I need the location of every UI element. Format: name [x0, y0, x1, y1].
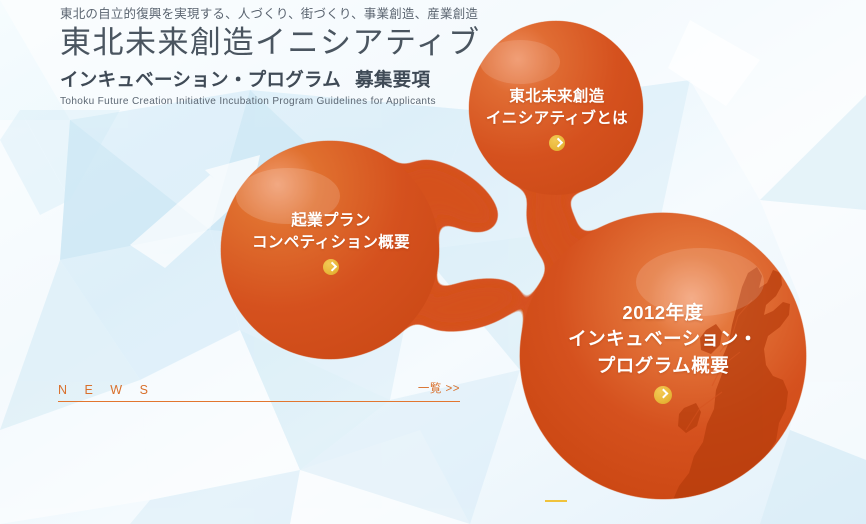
- news-section: N E W S 一覧 >>: [58, 380, 460, 402]
- circle-program-line-3: プログラム概要: [540, 353, 786, 379]
- chevron-right-icon[interactable]: [549, 135, 565, 151]
- nav-circle-competition[interactable]: 起業プラン コンペティション概要: [232, 210, 430, 275]
- header-tagline: 東北の自立的復興を実現する、人づくり、街づくり、事業創造、産業創造: [60, 6, 481, 22]
- chevron-right-icon[interactable]: [654, 386, 672, 404]
- header-subtitle-secondary: 募集要項: [355, 69, 430, 90]
- header-subtitle-main: インキュベーション・プログラム: [60, 69, 341, 90]
- news-heading: N E W S: [58, 383, 155, 397]
- page-header: 東北の自立的復興を実現する、人づくり、街づくり、事業創造、産業創造 東北未来創造…: [60, 6, 481, 109]
- circle-about-line-2: イニシアティブとは: [470, 108, 644, 130]
- chevron-right-icon[interactable]: [323, 259, 339, 275]
- bottom-gold-divider: [545, 500, 567, 502]
- page-title: 東北未来創造イニシアティブ: [60, 24, 481, 63]
- nav-circle-program[interactable]: 2012年度 インキュベーション・ プログラム概要: [540, 300, 786, 404]
- circle-program-line-2: インキュベーション・: [540, 326, 786, 352]
- header-english-subtitle: Tohoku Future Creation Initiative Incuba…: [60, 95, 464, 109]
- circle-competition-line-1: 起業プラン: [232, 210, 430, 232]
- header-subtitle: インキュベーション・プログラム募集要項: [60, 68, 481, 92]
- news-view-all-link[interactable]: 一覧 >>: [418, 380, 460, 397]
- circle-program-line-1: 2012年度: [540, 300, 786, 326]
- nav-circle-about[interactable]: 東北未来創造 イニシアティブとは: [470, 86, 644, 151]
- hero-page: 東北の自立的復興を実現する、人づくり、街づくり、事業創造、産業創造 東北未来創造…: [0, 0, 866, 524]
- circle-competition-line-2: コンペティション概要: [232, 232, 430, 254]
- news-header-row: N E W S 一覧 >>: [58, 380, 460, 402]
- circle-about-line-1: 東北未来創造: [470, 86, 644, 108]
